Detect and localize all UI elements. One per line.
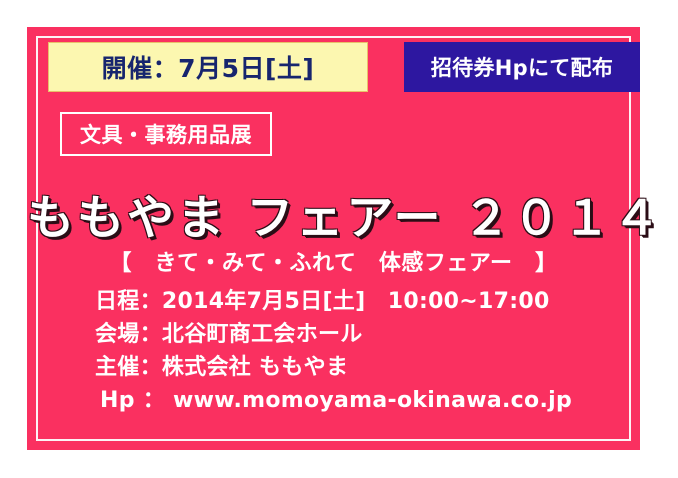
subtitle: 【 きて・みて・ふれて 体感フェアー 】 [27, 245, 640, 277]
category-tag: 文具・事務用品展 [60, 112, 272, 156]
category-tag-label: 文具・事務用品展 [80, 119, 252, 149]
ticket-banner-label: 招待券Hpにて配布 [431, 52, 613, 82]
detail-line-organizer: 主催：株式会社 ももやま [95, 351, 620, 384]
event-poster: 開催：7月5日[土] 招待券Hpにて配布 文具・事務用品展 ももやま フェアー … [0, 0, 678, 478]
main-title: ももやま フェアー ２０１４ [27, 179, 640, 248]
detail-line-venue: 会場：北谷町商工会ホール [95, 318, 620, 351]
date-banner-label: 開催：7月5日[土] [102, 49, 315, 85]
poster-header: 開催：7月5日[土] 招待券Hpにて配布 [48, 42, 619, 92]
detail-list: 日程：2014年7月5日[土] 10:00~17:00 会場：北谷町商工会ホール… [95, 285, 620, 417]
ticket-banner: 招待券Hpにて配布 [404, 42, 640, 92]
poster-panel: 開催：7月5日[土] 招待券Hpにて配布 文具・事務用品展 ももやま フェアー … [27, 27, 640, 450]
detail-line-schedule: 日程：2014年7月5日[土] 10:00~17:00 [95, 285, 620, 318]
detail-line-homepage: Hp ： www.momoyama-okinawa.co.jp [95, 384, 620, 417]
date-banner: 開催：7月5日[土] [48, 42, 368, 92]
